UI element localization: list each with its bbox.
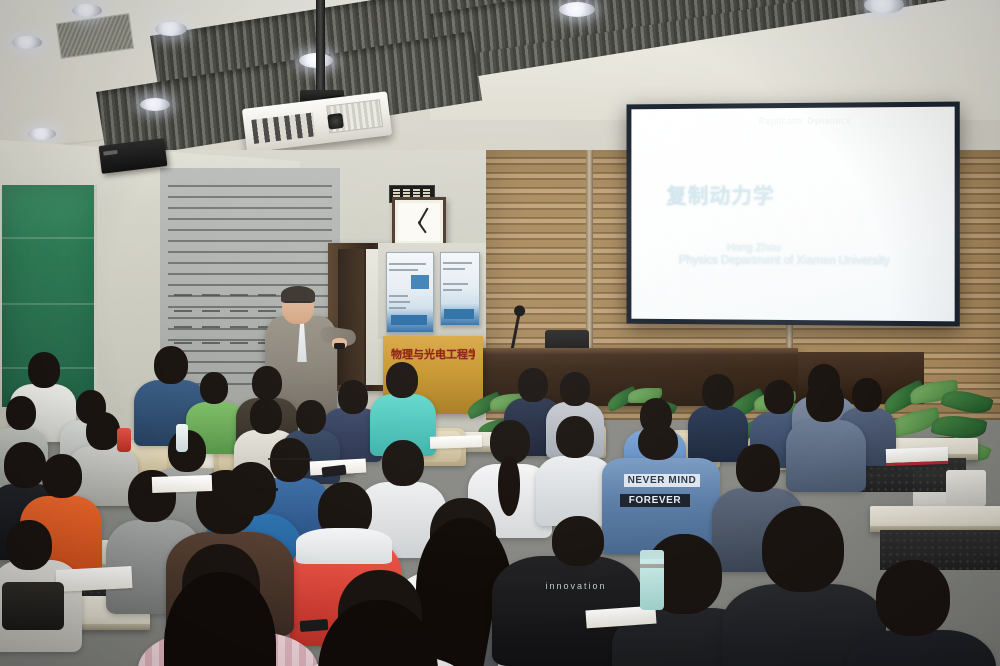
notebook	[430, 435, 482, 449]
ceiling-downlight	[28, 128, 56, 140]
clock-hour-hand	[418, 222, 427, 233]
thermos-bottle	[640, 550, 664, 610]
projector-lens	[327, 113, 344, 130]
jacket-text-line2: FOREVER	[620, 494, 690, 507]
projector-ports	[251, 112, 315, 143]
table-row	[870, 506, 1000, 532]
list-item	[440, 252, 480, 326]
slide-title: 复制动力学	[666, 180, 775, 210]
presentation-clicker	[334, 343, 345, 349]
jacket-text-line1: NEVER MIND	[624, 474, 700, 487]
ceiling-downlight	[559, 2, 595, 17]
clock-face	[398, 203, 440, 241]
ceiling-downlight	[140, 98, 170, 111]
glasses-icon	[285, 301, 311, 309]
notebook	[152, 475, 213, 493]
waste-bin	[946, 470, 986, 506]
ponytail	[498, 456, 520, 516]
slide-top-line: Replicator Dynamics	[759, 116, 851, 127]
slide-affiliation: Physics Department of Xiamen University	[679, 255, 890, 268]
glasses-icon	[268, 458, 312, 467]
projector-mount-pole	[316, 0, 325, 98]
notebook	[55, 566, 132, 592]
notebook	[886, 447, 949, 466]
projection-screen: Replicator Dynamics 复制动力学 Hong Zhou Phys…	[627, 102, 960, 327]
ceiling-downlight	[155, 22, 187, 36]
slide-author: Hong Zhou	[727, 241, 781, 253]
shirt-text: innovation	[530, 580, 622, 592]
ceiling-downlight	[72, 4, 102, 17]
lecture-hall-photo: Replicator Dynamics 复制动力学 Hong Zhou Phys…	[0, 0, 1000, 666]
water-bottle	[176, 424, 188, 452]
hood	[296, 528, 392, 564]
slide-surface: Replicator Dynamics 复制动力学 Hong Zhou Phys…	[631, 107, 954, 322]
smartphone	[300, 619, 329, 632]
red-cup	[117, 428, 131, 452]
wall-clock	[392, 197, 446, 247]
list-item	[386, 252, 434, 333]
smartphone	[321, 465, 346, 478]
ceiling-downlight	[12, 36, 42, 49]
door-panel[interactable]	[338, 249, 364, 385]
handbag	[2, 582, 64, 630]
